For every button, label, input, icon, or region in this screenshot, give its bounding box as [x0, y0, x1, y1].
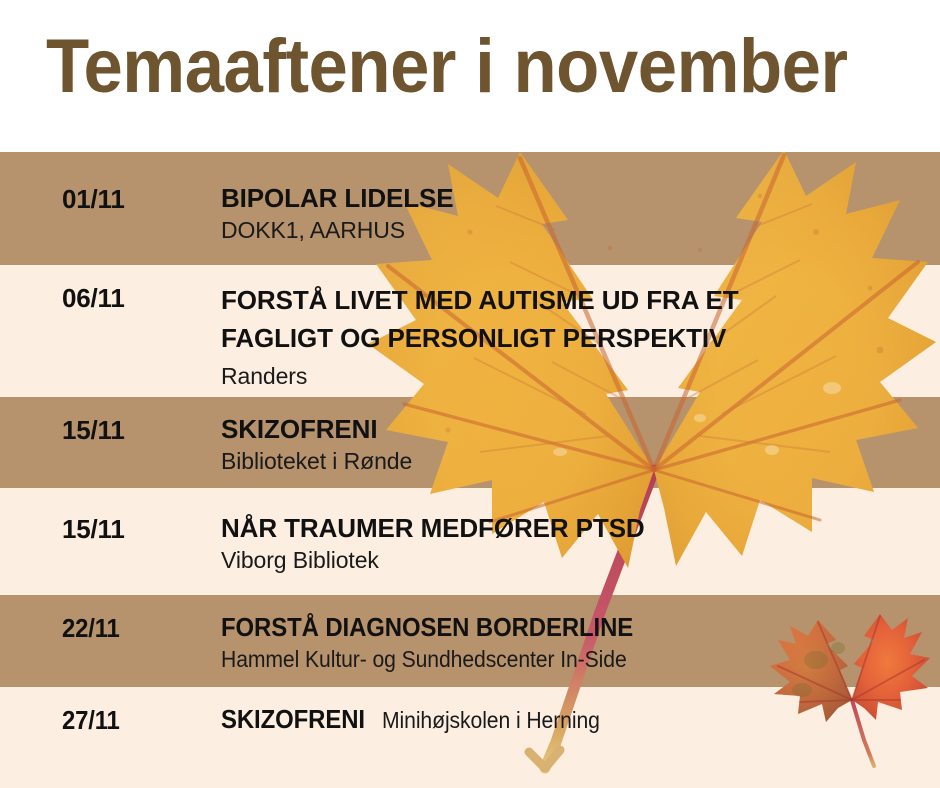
page-title: Temaaftener i november [46, 28, 846, 106]
event-date: 15/11 [62, 514, 202, 544]
event-title: FORSTÅ DIAGNOSEN BORDERLINE [221, 611, 633, 644]
event-title: BIPOLAR LIDELSE [221, 182, 930, 215]
event-title: FORSTÅ LIVET MED AUTISME UD FRA ET FAGLI… [221, 281, 930, 357]
event-location: Minihøjskolen i Herning [382, 705, 600, 735]
poster: Temaaftener i november 01/11 BIPOLAR LID… [0, 0, 940, 788]
event-date: 06/11 [62, 283, 202, 313]
event-title: NÅR TRAUMER MEDFØRER PTSD [221, 512, 930, 545]
event-date: 01/11 [62, 184, 202, 214]
event-date: 27/11 [62, 705, 191, 735]
event-title: SKIZOFRENI [221, 703, 365, 736]
event-date: 22/11 [62, 613, 191, 643]
schedule-row-2[interactable]: 06/11 FORSTÅ LIVET MED AUTISME UD FRA ET… [0, 265, 940, 397]
schedule-row-1[interactable]: 01/11 BIPOLAR LIDELSE DOKK1, AARHUS [0, 152, 940, 265]
schedule-row-3[interactable]: 15/11 SKIZOFRENI Biblioteket i Rønde [0, 397, 940, 488]
event-title: SKIZOFRENI [221, 413, 930, 446]
schedule-row-5[interactable]: 22/11 FORSTÅ DIAGNOSEN BORDERLINE Hammel… [0, 595, 940, 687]
schedule-row-4[interactable]: 15/11 NÅR TRAUMER MEDFØRER PTSD Viborg B… [0, 488, 940, 595]
schedule-row-6[interactable]: 27/11 SKIZOFRENI Minihøjskolen i Herning [0, 687, 940, 788]
event-location: Viborg Bibliotek [221, 545, 930, 575]
event-location: Biblioteket i Rønde [221, 446, 930, 476]
event-location: DOKK1, AARHUS [221, 215, 930, 245]
poster-header: Temaaftener i november [0, 0, 940, 152]
event-date: 15/11 [62, 415, 202, 445]
event-location: Hammel Kultur- og Sundhedscenter In-Side [221, 644, 627, 674]
event-location: Randers [221, 361, 930, 391]
